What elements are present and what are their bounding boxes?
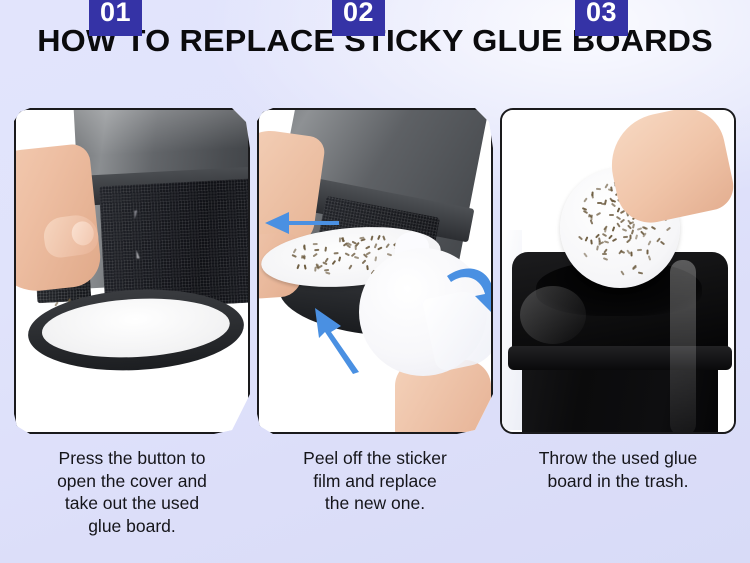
- insect: [603, 249, 608, 254]
- step-caption-3: Throw the used glue board in the trash.: [495, 447, 741, 492]
- arrow-up-left-icon: [311, 302, 363, 376]
- insect: [603, 225, 608, 230]
- insect: [604, 184, 608, 189]
- insect: [647, 241, 651, 246]
- step-number-badge-3: 03: [575, 0, 628, 36]
- insect: [595, 233, 600, 238]
- insect: [582, 207, 587, 211]
- insect: [304, 265, 307, 270]
- insect: [301, 254, 306, 259]
- insect: [374, 256, 377, 261]
- insect: [377, 247, 382, 251]
- insect: [640, 231, 645, 236]
- step-number-badge-2: 02: [332, 0, 385, 36]
- insect: [386, 244, 391, 249]
- insect: [616, 216, 621, 220]
- insect: [604, 227, 607, 232]
- step-panel-3: [500, 108, 736, 434]
- insect: [611, 203, 616, 208]
- insect: [608, 234, 613, 239]
- insect: [351, 241, 356, 245]
- insect: [602, 258, 607, 262]
- insect: [591, 193, 594, 198]
- insect: [338, 256, 341, 261]
- insect: [303, 245, 307, 250]
- insect: [296, 264, 300, 269]
- step-panel-1: [14, 108, 250, 434]
- insect: [646, 249, 648, 254]
- insect: [621, 271, 625, 276]
- insect: [643, 232, 648, 237]
- insect: [354, 245, 356, 250]
- insect: [292, 248, 296, 253]
- insect: [325, 271, 330, 274]
- insect: [355, 242, 360, 247]
- infographic-poster: HOW TO REPLACE STICKY GLUE BOARDS: [0, 0, 750, 563]
- insect: [656, 237, 661, 242]
- insect: [325, 246, 328, 251]
- insect: [304, 245, 306, 250]
- insect: [596, 188, 601, 190]
- insect: [596, 212, 601, 216]
- insect: [589, 219, 593, 224]
- insect: [332, 260, 337, 265]
- step-2-illustration: [259, 110, 491, 432]
- insect: [629, 234, 631, 239]
- insect: [314, 249, 319, 251]
- insect: [620, 250, 625, 254]
- insect: [314, 266, 317, 271]
- insect: [315, 263, 318, 268]
- insect: [366, 252, 371, 256]
- insect: [666, 227, 671, 232]
- lid-highlight: [520, 286, 586, 344]
- step-caption-1: Press the button to open the cover and t…: [9, 447, 255, 537]
- insect: [590, 215, 592, 220]
- zapper-highlight: [73, 108, 250, 157]
- insect: [608, 188, 613, 191]
- insect: [365, 245, 370, 249]
- insect: [626, 238, 631, 243]
- insect: [651, 226, 656, 230]
- step-1-illustration: [16, 110, 248, 432]
- insect: [610, 187, 613, 192]
- insect: [612, 226, 616, 231]
- step-3-illustration: [502, 110, 734, 432]
- insect: [637, 249, 642, 251]
- insect: [598, 238, 601, 243]
- insect: [632, 266, 637, 271]
- insect: [374, 243, 378, 248]
- insect: [363, 254, 368, 259]
- insect: [588, 214, 593, 219]
- insect: [300, 255, 305, 259]
- insect: [346, 244, 351, 249]
- insect: [618, 249, 623, 254]
- insect: [604, 200, 607, 205]
- insect: [588, 215, 593, 218]
- insect: [626, 249, 631, 254]
- insect: [349, 265, 353, 270]
- insect: [351, 252, 356, 257]
- insect: [343, 242, 348, 247]
- insect: [609, 214, 614, 216]
- insect: [590, 239, 593, 244]
- insect: [382, 235, 386, 240]
- insect: [602, 253, 607, 255]
- insect: [629, 221, 634, 225]
- insect: [603, 240, 608, 243]
- insect: [292, 254, 297, 258]
- insect: [361, 238, 366, 241]
- insect: [616, 222, 620, 227]
- insect: [303, 255, 306, 260]
- insect: [598, 240, 600, 245]
- insect: [362, 259, 367, 264]
- insect: [354, 256, 359, 259]
- insect: [325, 257, 329, 262]
- insect: [621, 228, 626, 232]
- insect: [599, 241, 604, 245]
- insect: [583, 253, 588, 258]
- insect: [596, 245, 599, 250]
- insect: [638, 271, 643, 274]
- insect: [591, 191, 593, 196]
- insect: [601, 233, 606, 237]
- insect: [347, 242, 352, 246]
- insect: [632, 264, 637, 269]
- steps-container: [14, 108, 736, 434]
- can-highlight: [670, 260, 696, 434]
- insect: [583, 210, 588, 214]
- insect: [648, 255, 652, 260]
- step-number-badge-1: 01: [89, 0, 142, 36]
- insect: [623, 236, 628, 238]
- insect: [333, 252, 338, 254]
- used-glue-board: [41, 294, 232, 362]
- insect: [637, 227, 642, 230]
- insect: [611, 199, 616, 203]
- insect: [359, 236, 364, 239]
- trash-can-rim: [508, 346, 732, 370]
- insect: [617, 208, 621, 213]
- insect: [609, 198, 614, 203]
- insect: [601, 203, 606, 206]
- insect: [370, 235, 373, 240]
- insect: [627, 219, 632, 224]
- insect: [620, 219, 625, 224]
- insect: [632, 223, 635, 228]
- insect: [585, 236, 589, 241]
- insect: [630, 230, 633, 235]
- insect: [635, 234, 638, 239]
- insect: [312, 243, 317, 245]
- insect: [340, 237, 344, 242]
- insect: [317, 264, 319, 269]
- step-caption-2: Peel off the sticker film and replace th…: [252, 447, 498, 515]
- insect: [578, 235, 583, 240]
- insect: [342, 237, 344, 242]
- step-panel-2: [257, 108, 493, 434]
- insect: [630, 252, 632, 257]
- arrow-curved-right-icon: [445, 260, 493, 322]
- insect: [611, 237, 616, 241]
- insect: [377, 234, 381, 239]
- insect: [642, 227, 647, 231]
- insect: [312, 253, 317, 258]
- insect: [367, 265, 370, 270]
- arrow-left-icon: [261, 206, 341, 240]
- insect: [345, 252, 350, 256]
- insect: [322, 261, 327, 265]
- insect: [583, 198, 587, 203]
- insect: [597, 202, 602, 204]
- insect: [324, 269, 329, 271]
- insect: [642, 226, 647, 230]
- insect: [318, 265, 323, 269]
- insect: [627, 225, 632, 230]
- insect: [660, 240, 665, 245]
